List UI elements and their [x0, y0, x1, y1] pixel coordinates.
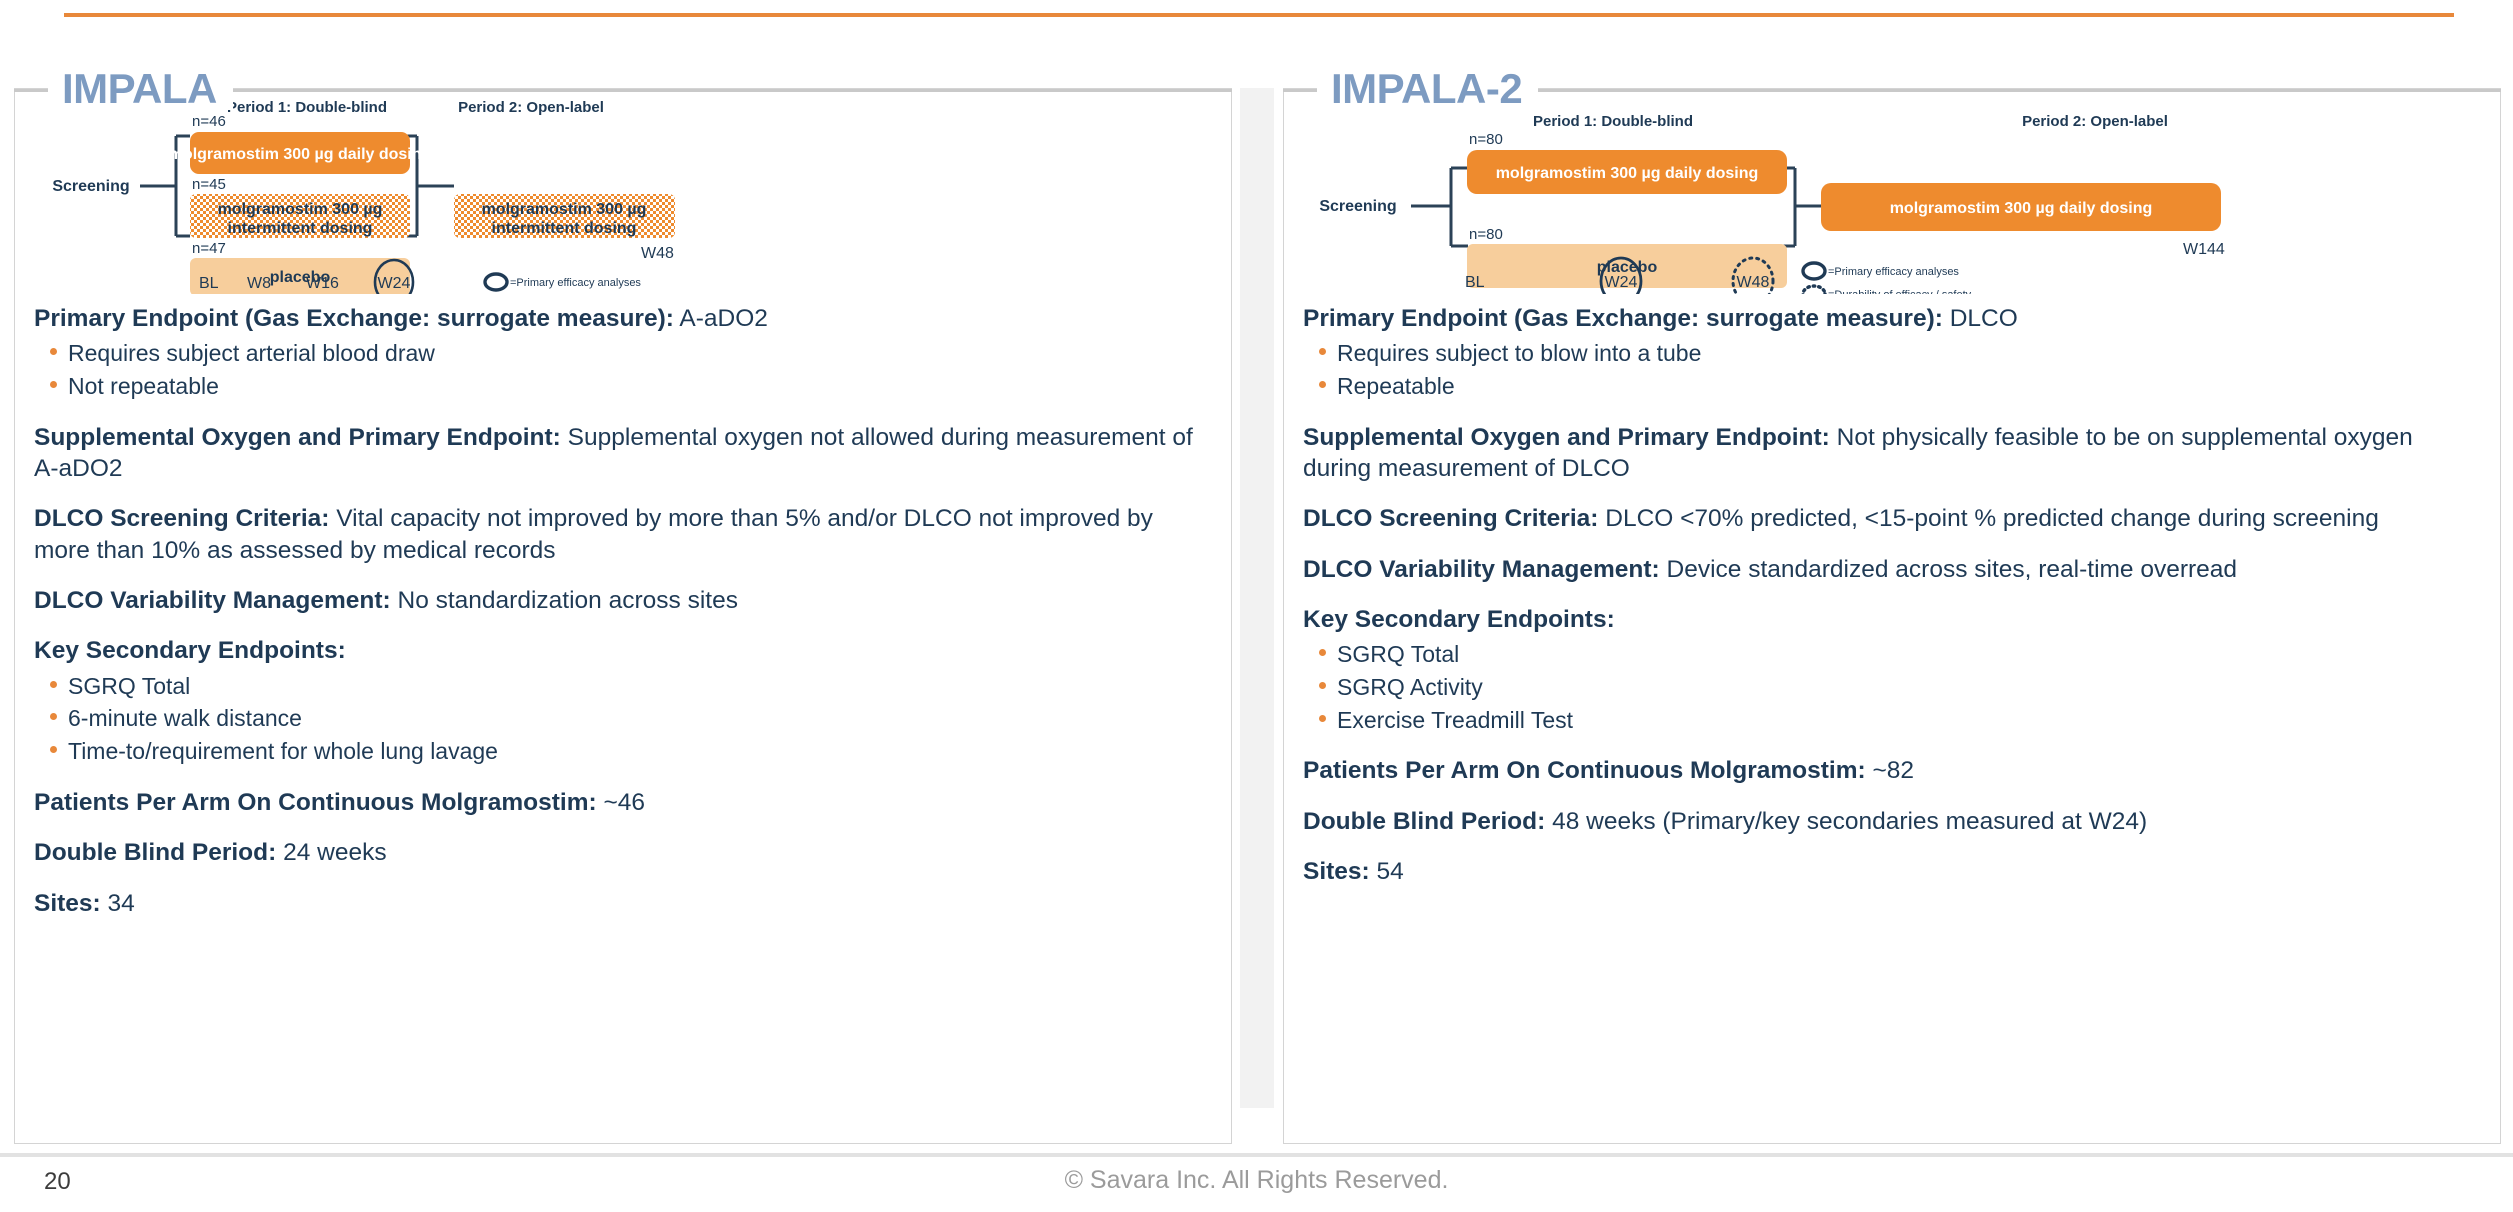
screening-label: Screening [52, 178, 129, 195]
section-value: 34 [108, 890, 135, 917]
arm3-n-label: n=47 [192, 240, 226, 257]
impala-sections: Primary Endpoint (Gas Exchange: surrogat… [34, 303, 1214, 938]
list-item: SGRQ Total [34, 670, 1214, 703]
list-item: 6-minute walk distance [34, 702, 1214, 735]
section-primary-endpoint: Primary Endpoint (Gas Exchange: surrogat… [34, 303, 1214, 403]
section-value: 54 [1377, 858, 1404, 885]
period2-label-line2: intermittent dosing [492, 220, 637, 237]
page-title: IMPALA [48, 68, 233, 110]
legend-solid-ellipse-icon [1803, 263, 1825, 279]
arm2-n-label: n=80 [1469, 226, 1503, 243]
arm1-label: molgramostim 300 µg daily dosing [169, 146, 432, 163]
title-rule [233, 89, 1232, 92]
panel-header: IMPALA-2 [1283, 58, 2501, 120]
section-bullets: Requires subject arterial blood draw Not… [34, 337, 1214, 402]
tick-w48: W48 [1737, 274, 1770, 291]
section-label: DLCO Screening Criteria: [1303, 505, 1598, 532]
period2-end-label: W48 [641, 245, 674, 262]
slide: IMPALA Period 1: Double-blind Period 2: … [0, 0, 2513, 1212]
section-value: 24 weeks [283, 839, 387, 866]
section-label: Key Secondary Endpoints: [1303, 606, 1615, 633]
section-value: Device standardized across sites, real-t… [1667, 556, 2238, 583]
tick-w8: W8 [247, 275, 271, 292]
section-supplemental-oxygen: Supplemental Oxygen and Primary Endpoint… [1303, 422, 2483, 485]
period2-label-line1: molgramostim 300 µg [482, 201, 647, 218]
section-label: Primary Endpoint (Gas Exchange: surrogat… [1303, 305, 1943, 332]
legend-primary-text: =Primary efficacy analyses [1828, 266, 1959, 278]
tick-w24: W24 [1605, 274, 1638, 291]
arm2-label-line1: molgramostim 300 µg [218, 201, 383, 218]
panel-divider-strip [1240, 88, 1274, 1108]
section-label: Supplemental Oxygen and Primary Endpoint… [34, 424, 561, 451]
section-value: DLCO <70% predicted, <15-point % predict… [1605, 505, 2379, 532]
tick-w24: W24 [378, 275, 411, 292]
section-label: Supplemental Oxygen and Primary Endpoint… [1303, 424, 1830, 451]
page-title: IMPALA-2 [1317, 68, 1538, 110]
legend-dotted-ellipse-icon [1803, 286, 1825, 294]
section-label: Sites: [1303, 858, 1370, 885]
section-value: 48 weeks (Primary/key secondaries measur… [1552, 808, 2147, 835]
arm2-label-line2: intermittent dosing [228, 220, 373, 237]
arm1-n-label: n=80 [1469, 131, 1503, 148]
period2-label-text: molgramostim 300 µg daily dosing [1890, 200, 2153, 217]
section-value: A-aDO2 [679, 305, 768, 332]
section-dlco-screening-criteria: DLCO Screening Criteria: DLCO <70% predi… [1303, 503, 2483, 534]
panel-impala: IMPALA Period 1: Double-blind Period 2: … [14, 58, 1232, 1144]
section-label: Sites: [34, 890, 101, 917]
section-primary-endpoint: Primary Endpoint (Gas Exchange: surrogat… [1303, 303, 2483, 403]
list-item: Requires subject to blow into a tube [1303, 337, 2483, 370]
section-value: No standardization across sites [398, 587, 738, 614]
footer-rule [0, 1153, 2513, 1157]
section-dlco-variability: DLCO Variability Management: Device stan… [1303, 554, 2483, 585]
section-dlco-screening-criteria: DLCO Screening Criteria: Vital capacity … [34, 503, 1214, 566]
section-label: DLCO Variability Management: [34, 587, 391, 614]
section-label: Patients Per Arm On Continuous Molgramos… [1303, 757, 1866, 784]
section-label: Patients Per Arm On Continuous Molgramos… [34, 789, 597, 816]
list-item: Repeatable [1303, 370, 2483, 403]
list-item: SGRQ Total [1303, 638, 2483, 671]
section-sites: Sites: 54 [1303, 856, 2483, 887]
section-double-blind-period: Double Blind Period: 24 weeks [34, 837, 1214, 868]
section-label: Double Blind Period: [1303, 808, 1545, 835]
section-double-blind-period: Double Blind Period: 48 weeks (Primary/k… [1303, 806, 2483, 837]
panel-header: IMPALA [14, 58, 1232, 120]
list-item: Time-to/requirement for whole lung lavag… [34, 735, 1214, 768]
title-dash [14, 89, 48, 92]
section-label: DLCO Screening Criteria: [34, 505, 329, 532]
legend-solid-ellipse-icon [485, 274, 507, 290]
title-dash [1283, 89, 1317, 92]
section-label: Key Secondary Endpoints: [34, 637, 346, 664]
legend-durability-text: =Durability of efficacy / safety [1828, 289, 1972, 294]
arm2-n-label: n=45 [192, 176, 226, 193]
section-value: ~82 [1872, 757, 1914, 784]
section-key-secondary-endpoints: Key Secondary Endpoints: SGRQ Total SGRQ… [1303, 604, 2483, 736]
list-item: Requires subject arterial blood draw [34, 337, 1214, 370]
section-label: Primary Endpoint (Gas Exchange: surrogat… [34, 305, 674, 332]
section-supplemental-oxygen: Supplemental Oxygen and Primary Endpoint… [34, 422, 1214, 485]
section-label: DLCO Variability Management: [1303, 556, 1660, 583]
list-item: SGRQ Activity [1303, 671, 2483, 704]
section-bullets: Requires subject to blow into a tube Rep… [1303, 337, 2483, 402]
tick-bl: BL [199, 275, 219, 292]
panel-impala-2: IMPALA-2 Period 1: Double-blind Period 2… [1283, 58, 2501, 1144]
top-accent-rule [64, 13, 2454, 17]
arm1-label: molgramostim 300 µg daily dosing [1496, 165, 1759, 182]
period2-end-label: W144 [2183, 241, 2225, 258]
copyright-notice: © Savara Inc. All Rights Reserved. [0, 1166, 2513, 1195]
tick-w16: W16 [306, 275, 339, 292]
section-key-secondary-endpoints: Key Secondary Endpoints: SGRQ Total 6-mi… [34, 635, 1214, 767]
screening-label: Screening [1319, 198, 1396, 215]
list-item: Exercise Treadmill Test [1303, 704, 2483, 737]
section-dlco-variability: DLCO Variability Management: No standard… [34, 585, 1214, 616]
section-value: DLCO [1950, 305, 2018, 332]
legend-primary-text: =Primary efficacy analyses [510, 277, 641, 289]
section-bullets: SGRQ Total SGRQ Activity Exercise Treadm… [1303, 638, 2483, 736]
section-bullets: SGRQ Total 6-minute walk distance Time-t… [34, 670, 1214, 768]
tick-bl: BL [1465, 274, 1485, 291]
section-patients-per-arm: Patients Per Arm On Continuous Molgramos… [1303, 755, 2483, 786]
section-sites: Sites: 34 [34, 888, 1214, 919]
section-patients-per-arm: Patients Per Arm On Continuous Molgramos… [34, 787, 1214, 818]
section-label: Double Blind Period: [34, 839, 276, 866]
section-value: ~46 [603, 789, 645, 816]
list-item: Not repeatable [34, 370, 1214, 403]
impala2-sections: Primary Endpoint (Gas Exchange: surrogat… [1303, 303, 2483, 907]
title-rule [1538, 89, 2501, 92]
